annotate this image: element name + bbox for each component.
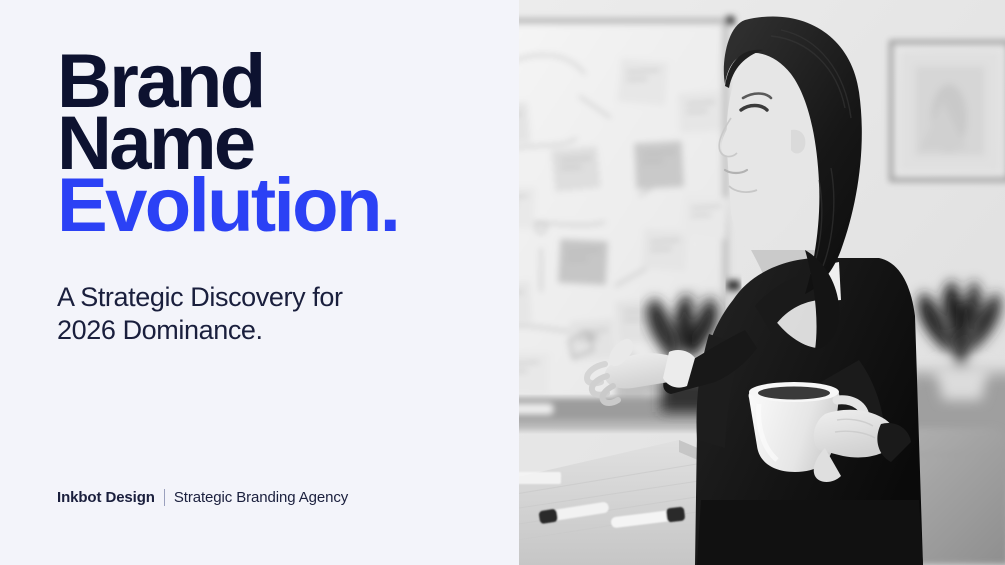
coffee-liquid — [758, 387, 830, 400]
office-scene-illustration — [519, 0, 1005, 565]
left-text-panel: Brand Name Evolution. A Strategic Discov… — [0, 0, 519, 565]
agency-tagline: Strategic Branding Agency — [174, 489, 348, 506]
subtitle-line-2: 2026 Dominance. — [57, 314, 343, 347]
subtitle: A Strategic Discovery for 2026 Dominance… — [57, 281, 343, 347]
headline-line-3-accent: Evolution. — [57, 175, 398, 237]
footer-divider — [164, 489, 165, 506]
presentation-slide: Brand Name Evolution. A Strategic Discov… — [0, 0, 1005, 565]
page-title: Brand Name Evolution. — [57, 51, 398, 237]
subtitle-line-1: A Strategic Discovery for — [57, 281, 343, 314]
footer-credit: Inkbot Design Strategic Branding Agency — [57, 489, 348, 506]
hero-photograph — [519, 0, 1005, 565]
framed-artwork — [891, 42, 1005, 180]
agency-name: Inkbot Design — [57, 489, 155, 506]
